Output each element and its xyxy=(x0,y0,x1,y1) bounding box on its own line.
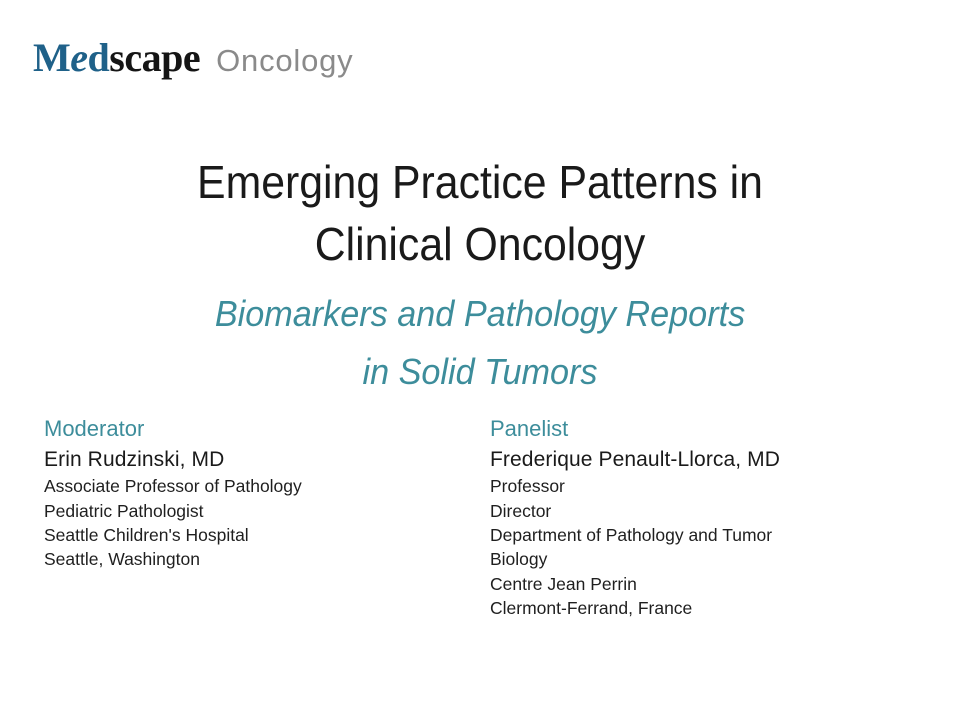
presenter-affiliation: Associate Professor of Pathology Pediatr… xyxy=(44,474,464,571)
page-subtitle-line-1: Biomarkers and Pathology Reports xyxy=(100,296,860,332)
brand-suffix-oncology: Oncology xyxy=(216,45,353,76)
medscape-wordmark-italic-e: e xyxy=(70,35,87,80)
page-title-line-2: Clinical Oncology xyxy=(108,214,852,276)
presenter-role-label: Moderator xyxy=(44,416,464,441)
medscape-wordmark-scape: scape xyxy=(109,35,200,80)
presenter-affiliation: Professor Director Department of Patholo… xyxy=(490,474,920,620)
slide-root: { "brand": { "word_part_one": "M", "word… xyxy=(0,0,960,720)
medscape-wordmark-med: M xyxy=(33,35,70,80)
affiliation-text: Associate Professor of Pathology Pediatr… xyxy=(44,474,464,571)
title-block: Emerging Practice Patterns in Clinical O… xyxy=(80,152,880,275)
subtitle-block: Biomarkers and Pathology Reports in Soli… xyxy=(80,296,880,390)
medscape-logo: Medscape Oncology xyxy=(33,38,353,78)
affiliation-text: Professor Director Department of Patholo… xyxy=(490,474,920,620)
page-title-line-1: Emerging Practice Patterns in xyxy=(108,152,852,214)
presenter-role-label: Panelist xyxy=(490,416,920,441)
medscape-wordmark: Medscape xyxy=(33,38,200,78)
page-subtitle-line-2: in Solid Tumors xyxy=(100,354,860,390)
medscape-wordmark-d: d xyxy=(88,35,110,80)
presenter-moderator: Moderator Erin Rudzinski, MD Associate P… xyxy=(44,416,464,572)
presenters-section: Moderator Erin Rudzinski, MD Associate P… xyxy=(0,416,960,676)
presenter-name: Frederique Penault-Llorca, MD xyxy=(490,447,920,472)
presenter-panelist: Panelist Frederique Penault-Llorca, MD P… xyxy=(490,416,920,620)
presenter-name: Erin Rudzinski, MD xyxy=(44,447,464,472)
